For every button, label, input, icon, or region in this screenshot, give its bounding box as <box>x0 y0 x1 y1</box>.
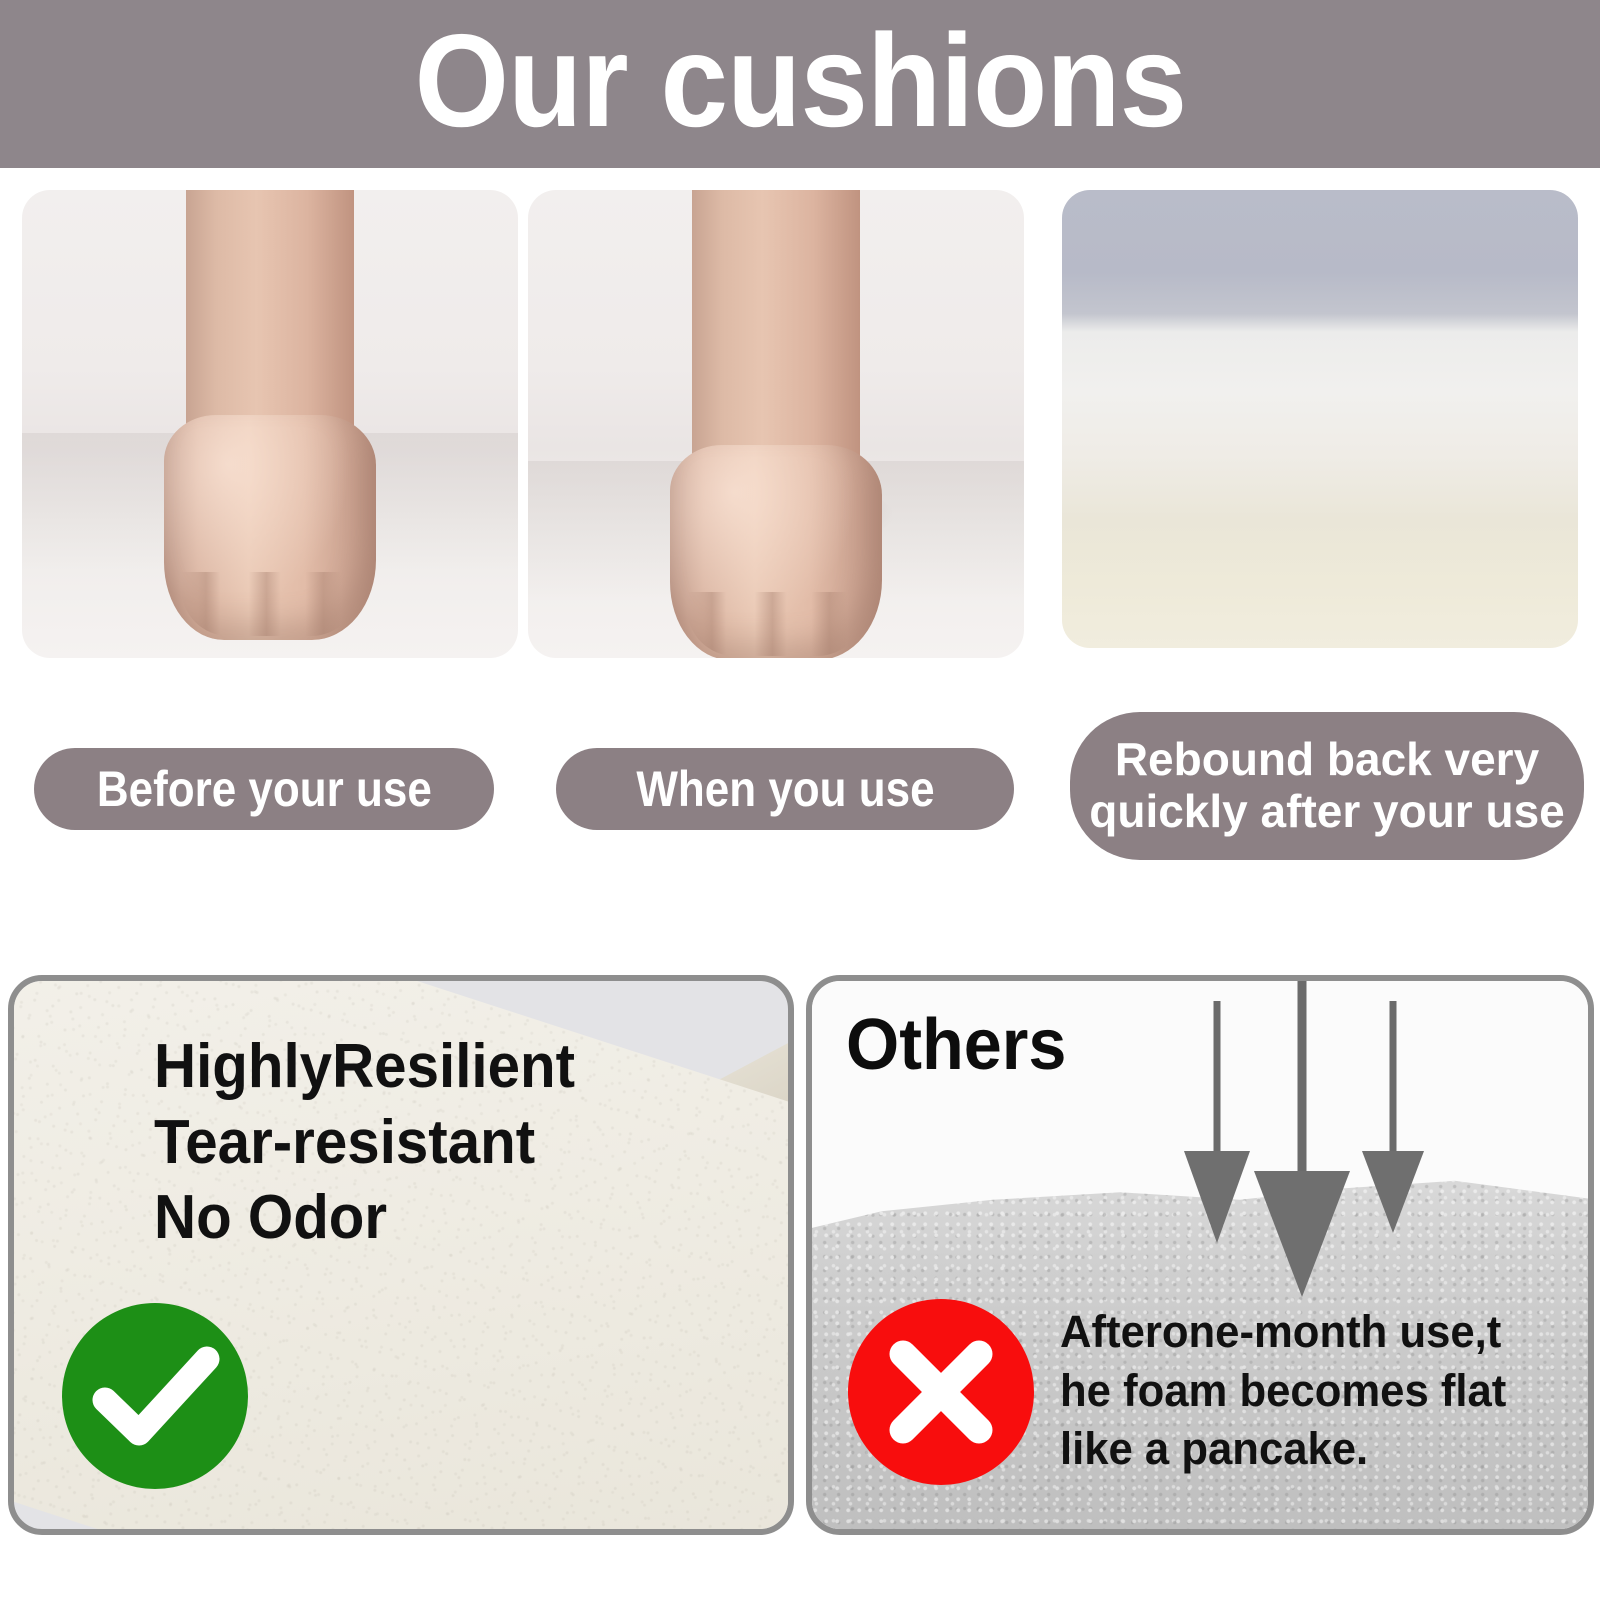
label-when-you-use: When you use <box>556 748 1014 830</box>
others-caption-line-2: he foam becomes flat <box>1060 1362 1564 1421</box>
label-rebound-line-1: Rebound back very <box>1115 734 1539 786</box>
arrow-head <box>1184 1151 1250 1243</box>
others-caption-line-3: like a pancake. <box>1060 1420 1564 1479</box>
feature-item-1: HighlyResilient <box>154 1029 575 1105</box>
label-rebound-after-use: Rebound back very quickly after your use <box>1070 712 1584 860</box>
arrow-head <box>1254 1171 1350 1297</box>
arrow-stem <box>1214 1001 1221 1153</box>
label-before-your-use: Before your use <box>34 748 494 830</box>
others-caption: Afterone-month use,t he foam becomes fla… <box>1060 1303 1564 1479</box>
feature-item-3: No Odor <box>154 1180 575 1256</box>
fist <box>670 445 882 658</box>
fist <box>164 415 376 640</box>
check-icon <box>62 1303 248 1489</box>
comparison-card-others: Others Afterone-month use,t he foam beco… <box>806 975 1594 1535</box>
photo-foam-restored-flat <box>1062 190 1578 648</box>
page-title: Our cushions <box>414 15 1186 147</box>
feature-item-2: Tear-resistant <box>154 1105 575 1181</box>
photo-fist-pressing-into-foam <box>528 190 1024 658</box>
label-before-your-use-text: Before your use <box>96 760 431 818</box>
foam-surface-after <box>1062 190 1578 648</box>
photo-row <box>0 190 1600 660</box>
arrow-stem <box>1390 1001 1397 1153</box>
arrow-stem <box>1298 977 1307 1173</box>
comparison-card-ours: HighlyResilient Tear-resistant No Odor <box>8 975 794 1535</box>
knuckles <box>181 572 359 636</box>
knuckles <box>687 592 865 656</box>
label-when-you-use-text: When you use <box>636 760 934 818</box>
others-caption-line-1: Afterone-month use,t <box>1060 1303 1564 1362</box>
feature-list: HighlyResilient Tear-resistant No Odor <box>154 1029 575 1256</box>
arrow-head <box>1362 1151 1424 1233</box>
others-title: Others <box>846 1009 1066 1081</box>
label-rebound-line-2: quickly after your use <box>1089 786 1565 838</box>
photo-fist-resting-on-foam <box>22 190 518 658</box>
cross-icon <box>848 1299 1034 1485</box>
header-banner: Our cushions <box>0 0 1600 168</box>
